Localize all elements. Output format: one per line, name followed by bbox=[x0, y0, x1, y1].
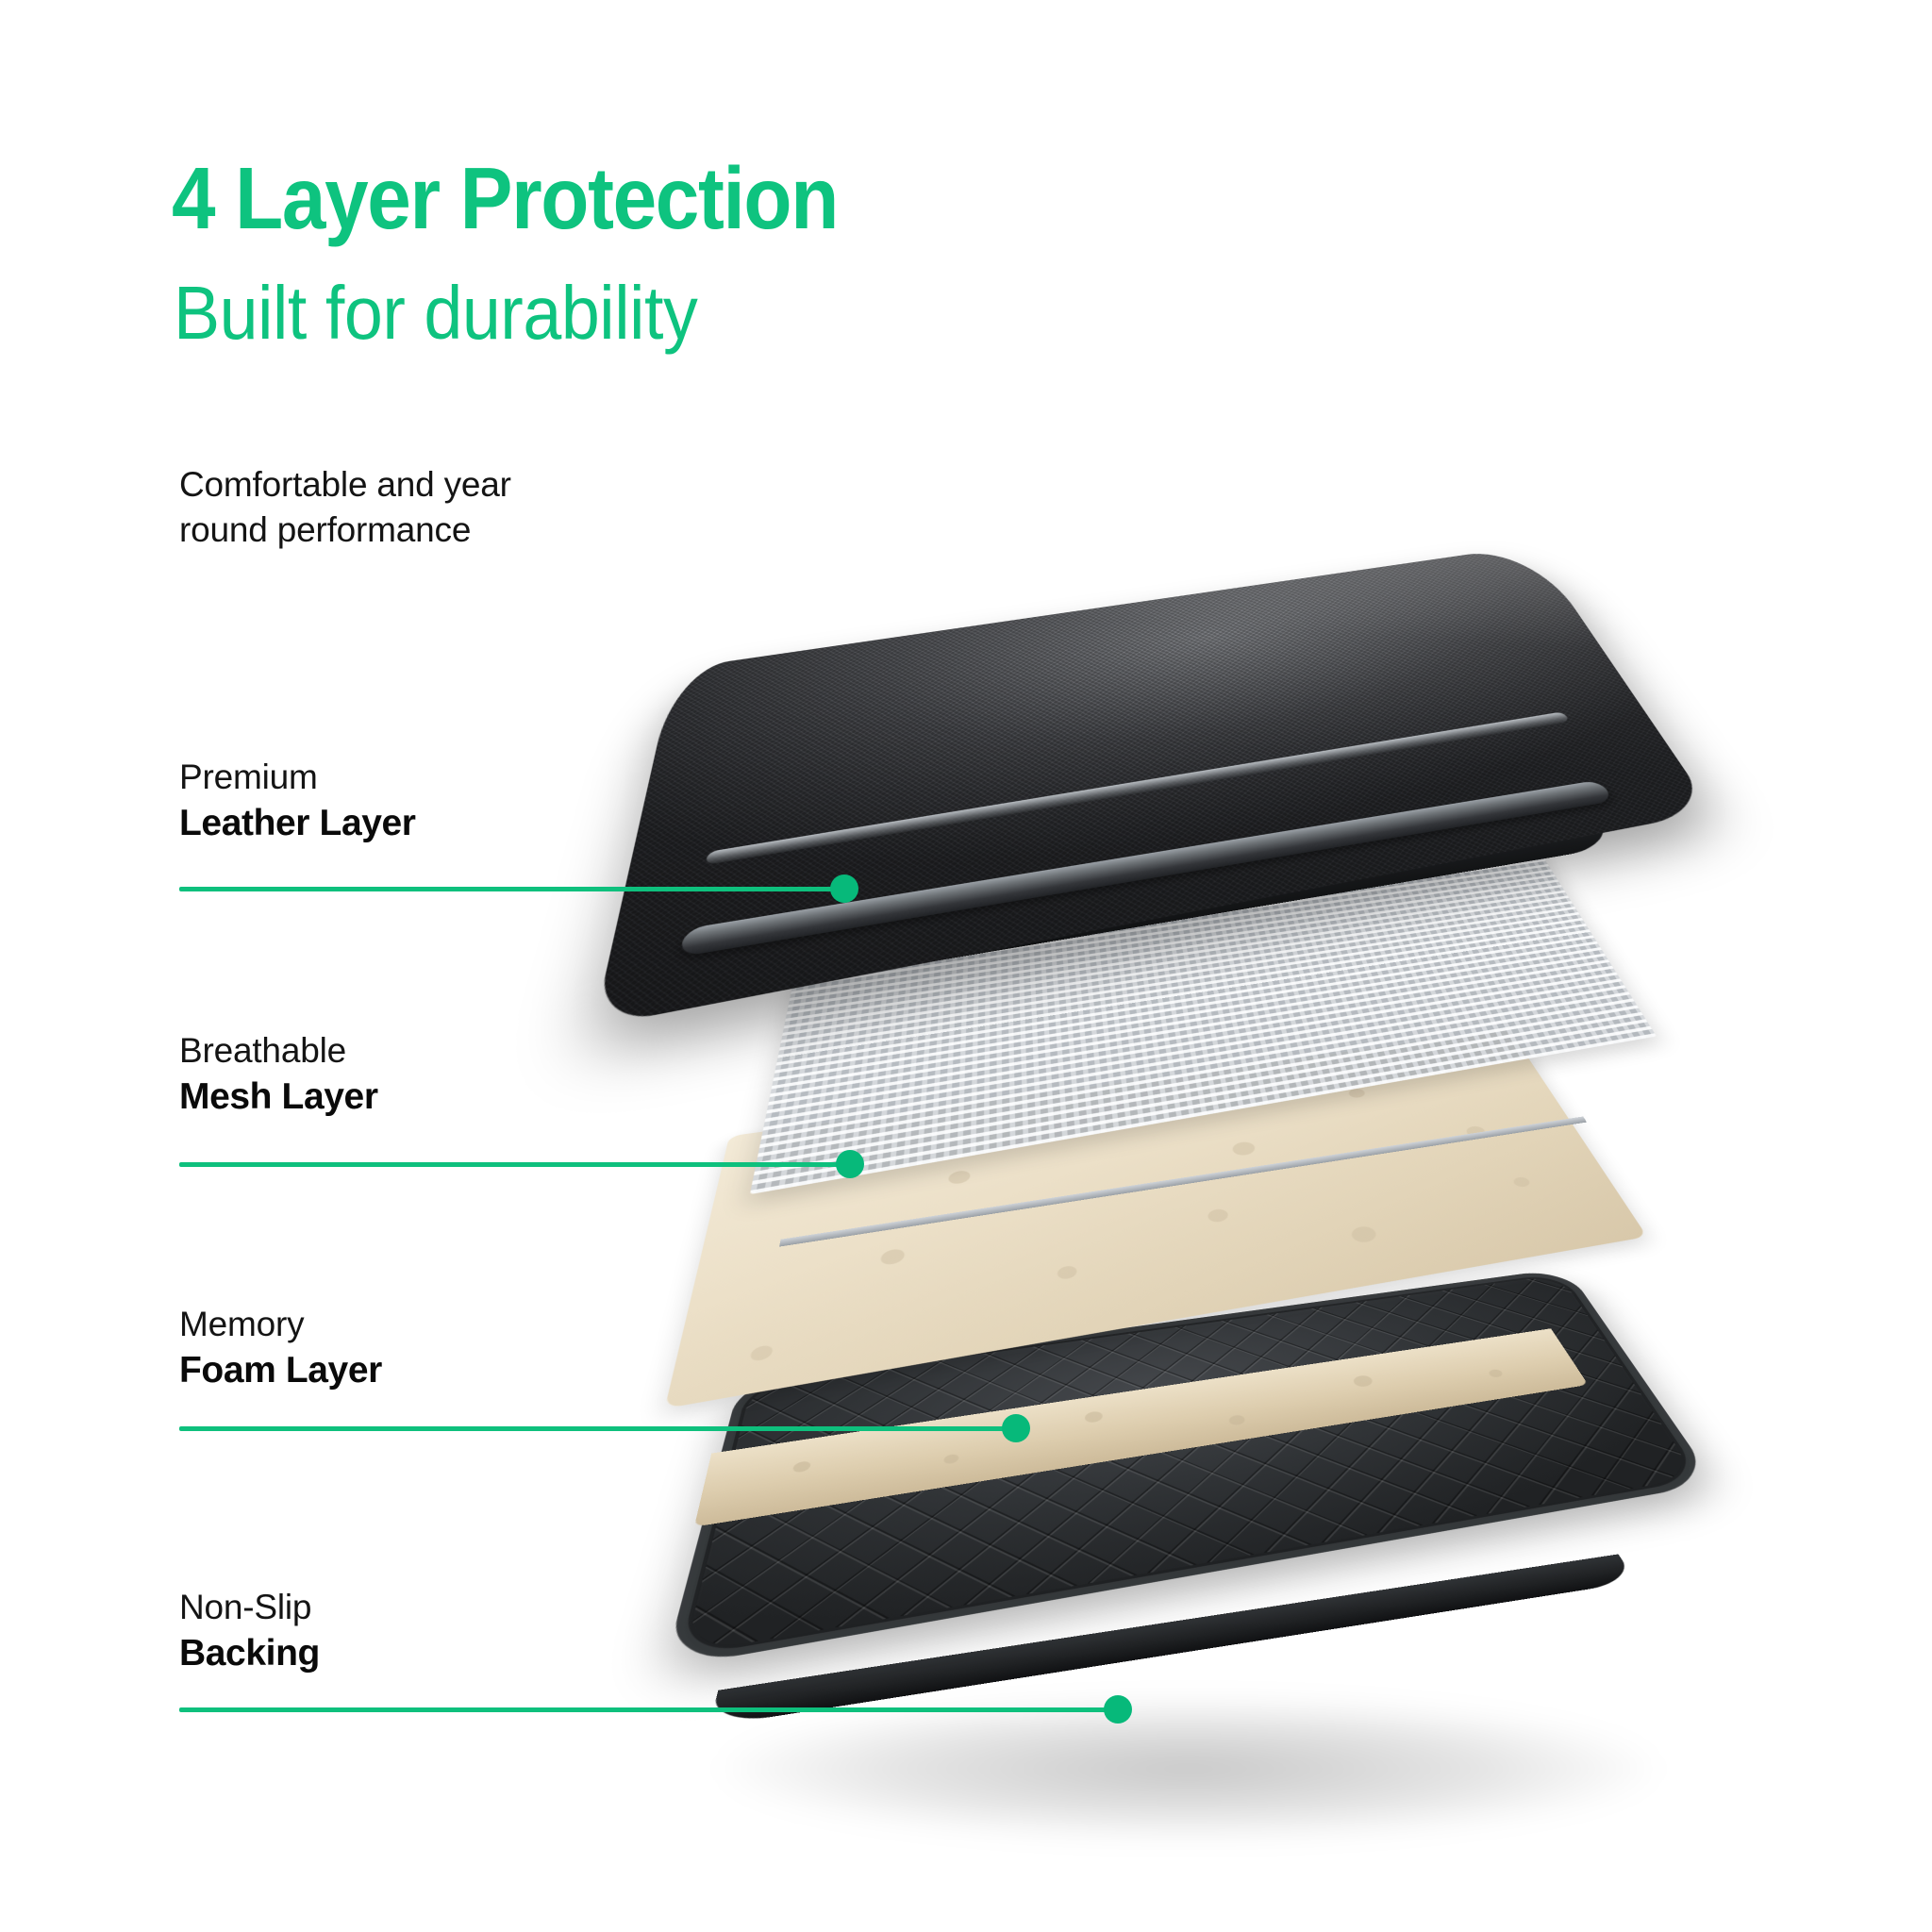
backing-side-edge bbox=[708, 1554, 1637, 1726]
product-layer-mesh bbox=[792, 783, 1623, 1226]
infographic-canvas: 4 Layer Protection Built for durability … bbox=[0, 0, 1932, 1932]
product-layer-backing bbox=[726, 1217, 1679, 1707]
callout-backing-title: Backing bbox=[179, 1630, 745, 1677]
leather-seam bbox=[706, 711, 1570, 865]
foam-top-surface bbox=[665, 1029, 1647, 1408]
leather-top-surface bbox=[593, 545, 1713, 1026]
leader-line-foam bbox=[179, 1426, 1023, 1431]
mesh-front-edge bbox=[779, 1116, 1587, 1246]
callout-leather: Premium Leather Layer bbox=[179, 755, 745, 847]
tagline-line-2: round performance bbox=[179, 508, 708, 553]
callout-foam-title: Foam Layer bbox=[179, 1347, 745, 1394]
callout-foam: Memory Foam Layer bbox=[179, 1302, 745, 1394]
leather-side-edge bbox=[679, 810, 1617, 1004]
callout-mesh: Breathable Mesh Layer bbox=[179, 1028, 745, 1121]
leader-dot-icon-mesh bbox=[836, 1150, 864, 1178]
backing-quilted-surface bbox=[664, 1268, 1716, 1669]
backing-rim bbox=[664, 1268, 1716, 1669]
leader-dot-icon-foam bbox=[1002, 1414, 1030, 1442]
callout-leather-prefix: Premium bbox=[179, 755, 745, 800]
callout-mesh-prefix: Breathable bbox=[179, 1028, 745, 1074]
page-subtitle: Built for durability bbox=[174, 272, 697, 355]
product-layer-leather bbox=[660, 491, 1660, 1057]
leather-texture bbox=[593, 545, 1713, 1026]
callout-leather-title: Leather Layer bbox=[179, 800, 745, 847]
callout-mesh-title: Mesh Layer bbox=[179, 1074, 745, 1121]
callout-backing: Non-Slip Backing bbox=[179, 1585, 745, 1677]
leader-line-leather bbox=[179, 887, 851, 891]
leather-sheen bbox=[593, 545, 1713, 1026]
leather-piping bbox=[679, 780, 1614, 958]
page-title: 4 Layer Protection bbox=[172, 151, 838, 245]
callout-backing-prefix: Non-Slip bbox=[179, 1585, 745, 1630]
tagline: Comfortable and year round performance bbox=[179, 462, 708, 553]
leader-line-backing bbox=[179, 1707, 1124, 1712]
product-drop-shadow bbox=[717, 1698, 1660, 1840]
leader-line-mesh bbox=[179, 1162, 857, 1167]
leader-dot-icon-leather bbox=[830, 874, 858, 903]
mesh-sheet-surface bbox=[750, 832, 1657, 1194]
callout-foam-prefix: Memory bbox=[179, 1302, 745, 1347]
leader-dot-icon-backing bbox=[1104, 1695, 1132, 1724]
tagline-line-1: Comfortable and year bbox=[179, 462, 708, 508]
